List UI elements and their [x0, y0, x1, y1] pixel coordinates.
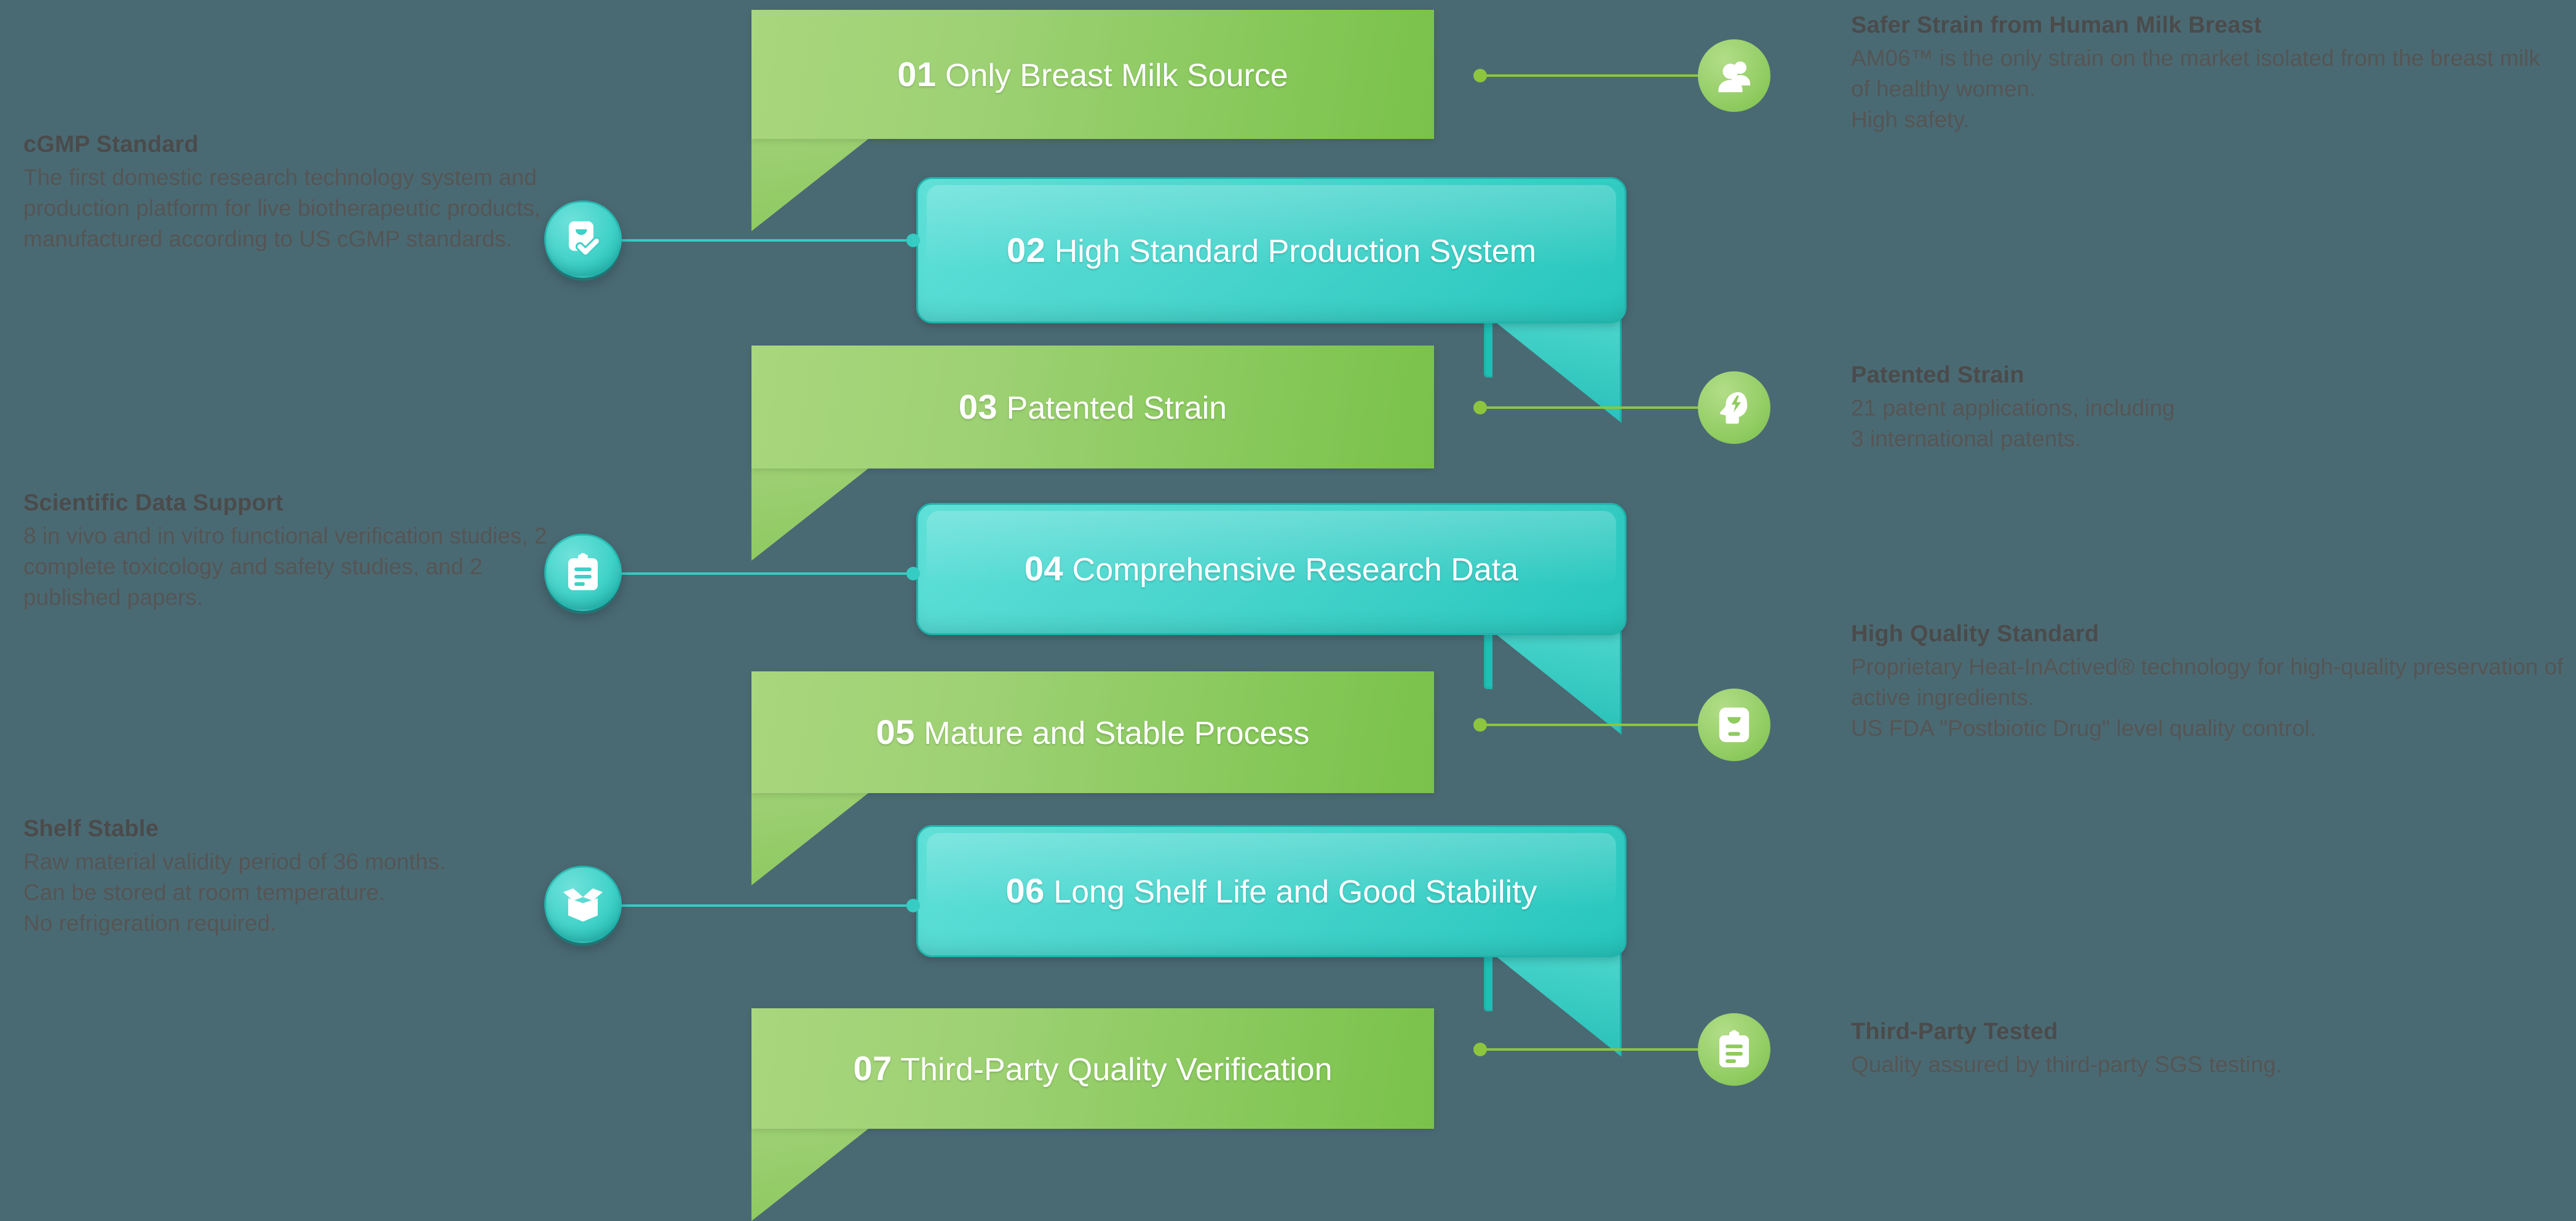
connector-line	[1476, 1048, 1700, 1051]
open-box-icon	[562, 886, 604, 923]
left-note-scientific-data-support: Scientific Data Support 8 in vivo and in…	[23, 489, 565, 613]
banner-title: High Standard Production System	[1055, 234, 1536, 269]
clipboard-icon-badge[interactable]	[544, 534, 622, 611]
banner-number: 03	[959, 387, 997, 426]
connector-line	[615, 572, 917, 575]
right-note-title: Patented Strain	[1851, 361, 2564, 390]
left-note-body: 8 in vivo and in vitro functional verifi…	[23, 521, 565, 614]
connector-dot	[1473, 1043, 1487, 1056]
right-note-body: 21 patent applications, including 3 inte…	[1851, 393, 2564, 455]
banner-text: 06 Long Shelf Life and Good Stability	[985, 869, 1558, 913]
banner-fold	[751, 793, 868, 885]
banner-title: Only Breast Milk Source	[945, 58, 1288, 93]
banner-fold-shadow	[1484, 630, 1492, 689]
banner-text: 05 Mature and Stable Process	[855, 711, 1331, 754]
banner-number: 01	[897, 55, 936, 93]
banner-number: 06	[1005, 871, 1044, 910]
banner-02[interactable]: 02 High Standard Production System	[916, 177, 1627, 323]
banner-number: 02	[1007, 231, 1045, 269]
left-note-cgmp-standard: cGMP Standard The first domestic researc…	[23, 130, 565, 255]
connector-banner6-to-left-note	[615, 904, 917, 907]
connector-line	[1476, 74, 1700, 77]
banner-text: 03 Patented Strain	[938, 385, 1248, 429]
banner-fold	[751, 1129, 868, 1221]
right-note-patented-strain: Patented Strain 21 patent applications, …	[1851, 361, 2564, 454]
connector-banner1-to-right-note	[1476, 74, 1700, 77]
left-note-title: Shelf Stable	[23, 815, 565, 844]
left-note-title: cGMP Standard	[23, 130, 565, 160]
infographic-canvas: cGMP Standard The first domestic researc…	[0, 0, 2576, 1191]
banner-title: Patented Strain	[1007, 390, 1227, 426]
banner-04[interactable]: 04 Comprehensive Research Data	[916, 503, 1627, 635]
banner-fold	[751, 139, 868, 231]
clipboard-icon-badge[interactable]	[1698, 1013, 1770, 1086]
right-note-safer-strain: Safer Strain from Human Milk Breast AM06…	[1851, 11, 2564, 135]
banner-number: 07	[853, 1049, 892, 1088]
connector-banner2-to-left-note	[615, 239, 917, 242]
banner-number: 05	[876, 713, 915, 751]
connector-dot	[906, 567, 920, 580]
banner-fold	[751, 468, 868, 561]
connector-dot	[1473, 401, 1487, 414]
connector-banner4-to-left-note	[615, 572, 917, 575]
banner-01[interactable]: 01 Only Breast Milk Source	[751, 10, 1434, 139]
right-note-title: Third-Party Tested	[1851, 1018, 2564, 1047]
connector-dot	[1473, 69, 1487, 82]
connector-banner5-to-right-note	[1476, 723, 1700, 727]
banner-03[interactable]: 03 Patented Strain	[751, 346, 1434, 468]
banner-text: 04 Comprehensive Research Data	[1004, 547, 1539, 591]
document-check-icon-badge[interactable]	[544, 200, 622, 278]
banner-title: Long Shelf Life and Good Stability	[1053, 874, 1537, 910]
right-note-high-quality-standard: High Quality Standard Proprietary Heat-I…	[1851, 620, 2564, 744]
banner-title: Mature and Stable Process	[924, 716, 1309, 751]
connector-dot	[906, 234, 920, 247]
banner-fold-shadow	[1484, 952, 1492, 1011]
banner-number: 04	[1024, 549, 1063, 588]
connector-line	[1476, 724, 1700, 726]
document-check-icon	[563, 219, 603, 259]
left-note-shelf-stable: Shelf Stable Raw material validity perio…	[23, 815, 565, 939]
right-note-body: AM06™ is the only strain on the market i…	[1851, 43, 2564, 136]
banner-fold	[1492, 954, 1622, 1057]
left-note-body: Raw material validity period of 36 month…	[23, 847, 565, 939]
banner-05[interactable]: 05 Mature and Stable Process	[751, 671, 1434, 793]
banner-fold-shadow	[1484, 318, 1492, 377]
right-note-body: Quality assured by third-party SGS testi…	[1851, 1049, 2564, 1080]
connector-dot	[906, 899, 920, 912]
banner-07[interactable]: 07 Third-Party Quality Verification	[751, 1008, 1434, 1129]
right-note-third-party-tested: Third-Party Tested Quality assured by th…	[1851, 1018, 2564, 1080]
left-note-body: The first domestic research technology s…	[23, 162, 565, 255]
head-idea-icon	[1715, 389, 1753, 427]
right-note-title: High Quality Standard	[1851, 620, 2564, 649]
connector-line	[615, 904, 917, 907]
connector-line	[1476, 406, 1700, 409]
users-icon	[1714, 56, 1754, 95]
clipboard-icon	[1716, 1030, 1752, 1069]
right-note-title: Safer Strain from Human Milk Breast	[1851, 11, 2564, 41]
users-icon-badge[interactable]	[1698, 39, 1770, 112]
banner-text: 07 Third-Party Quality Verification	[832, 1047, 1353, 1091]
right-note-body: Proprietary Heat-InActived® technology f…	[1851, 652, 2564, 745]
connector-banner7-to-right-note	[1476, 1048, 1700, 1051]
connector-banner3-to-right-note	[1476, 406, 1700, 409]
banner-title: Comprehensive Research Data	[1072, 552, 1518, 588]
connector-dot	[1473, 718, 1487, 732]
open-box-icon-badge[interactable]	[544, 866, 622, 943]
clipboard-icon	[565, 553, 601, 592]
head-idea-icon-badge[interactable]	[1698, 371, 1770, 444]
banner-title: Third-Party Quality Verification	[900, 1052, 1332, 1088]
banner-06[interactable]: 06 Long Shelf Life and Good Stability	[916, 825, 1627, 957]
banner-text: 02 High Standard Production System	[986, 229, 1557, 272]
document-smile-icon-badge[interactable]	[1698, 689, 1770, 761]
connector-line	[615, 239, 917, 242]
banner-fold	[1492, 631, 1622, 735]
document-smile-icon	[1716, 706, 1752, 744]
banner-text: 01 Only Breast Milk Source	[876, 53, 1309, 97]
left-note-title: Scientific Data Support	[23, 489, 565, 518]
